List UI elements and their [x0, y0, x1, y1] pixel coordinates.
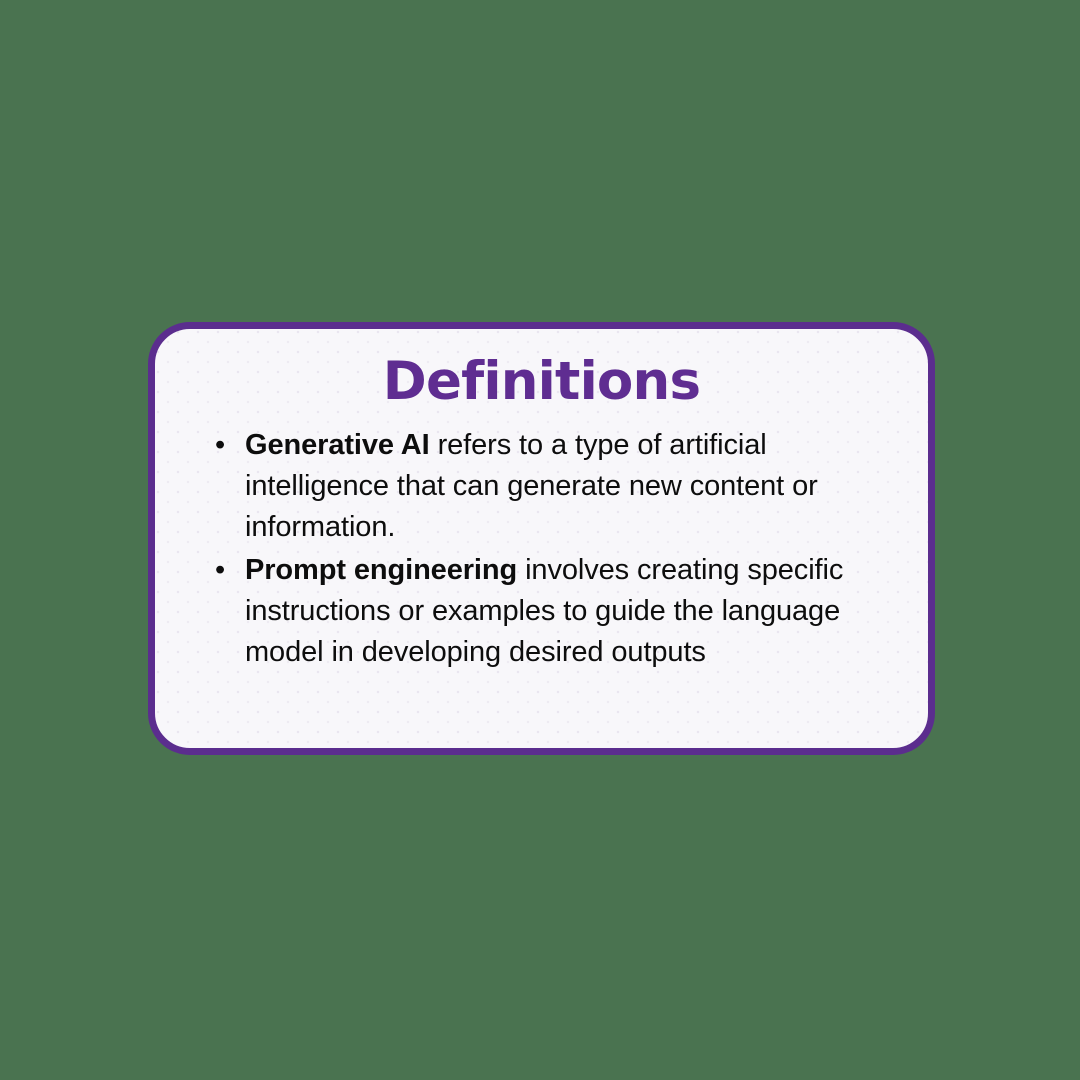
definition-term: Generative AI [245, 429, 430, 461]
list-item: •Generative AI refers to a type of artif… [199, 425, 884, 548]
slide-canvas: Definitions •Generative AI refers to a t… [0, 0, 1080, 1080]
definition-term: Prompt engineering [245, 554, 517, 586]
list-item: •Prompt engineering involves creating sp… [199, 550, 884, 673]
definitions-list: •Generative AI refers to a type of artif… [199, 425, 884, 673]
page-title: Definitions [199, 351, 884, 413]
definitions-card: Definitions •Generative AI refers to a t… [148, 322, 935, 755]
bullet-icon: • [215, 425, 235, 466]
bullet-icon: • [215, 550, 235, 591]
